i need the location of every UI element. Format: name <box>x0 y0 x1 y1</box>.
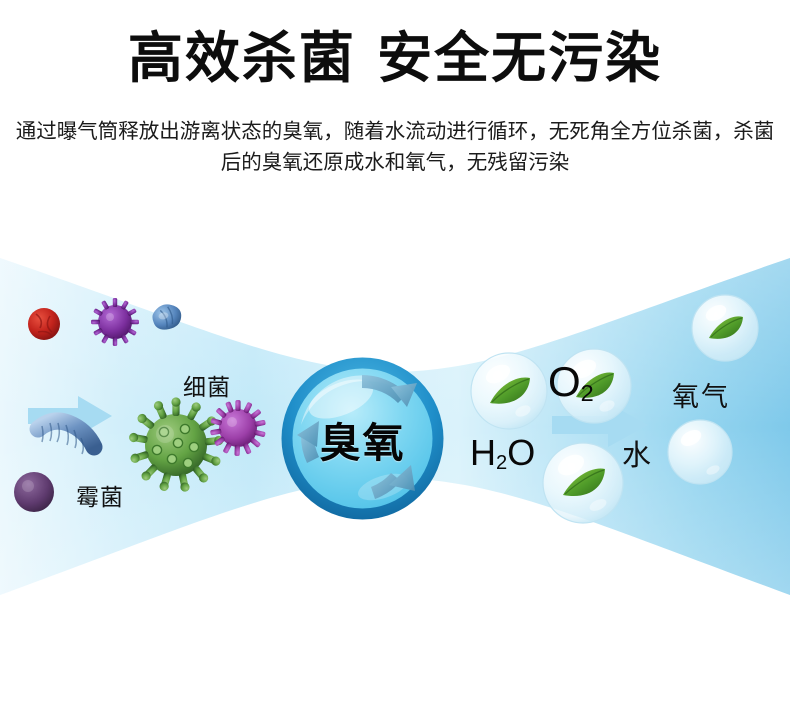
ozone-label: 臭氧 <box>279 355 446 522</box>
leaf-bubble-icon <box>471 353 547 429</box>
blue-bacterium-icon <box>150 302 183 332</box>
oxygen-subscript: 2 <box>581 380 594 406</box>
header: 高效杀菌 安全无污染 通过曝气筒释放出游离状态的臭氧，随着水流动进行循环，无死角… <box>0 0 790 210</box>
red-germ-icon <box>28 308 60 340</box>
oxygen-symbol: O <box>548 358 581 405</box>
leaf-bubble-icon <box>692 295 758 361</box>
magenta-spiky-germ-icon <box>210 400 266 456</box>
blue-rod-bacteria-icon <box>38 421 94 454</box>
green-virus-icon <box>128 397 223 492</box>
label-mold: 霉菌 <box>76 478 124 512</box>
oxygen-formula: O2 <box>548 358 594 406</box>
sterilization-diagram: 细菌 霉菌 O2 H2O 氧气 水 <box>0 230 790 610</box>
label-oxygen-gas: 氧气 <box>672 375 730 414</box>
water-symbol-o: O <box>507 432 535 473</box>
water-subscript: 2 <box>496 452 507 474</box>
page-subtitle: 通过曝气筒释放出游离状态的臭氧，随着水流动进行循环，无死角全方位杀菌，杀菌后的臭… <box>14 116 776 178</box>
purple-spiky-germ-icon <box>91 298 139 346</box>
leaf-bubble-icon <box>543 443 623 523</box>
dark-purple-spiky-germ-icon <box>2 460 66 523</box>
water-formula: H2O <box>470 432 535 474</box>
label-water: 水 <box>622 432 652 474</box>
water-symbol-h: H <box>470 432 496 473</box>
label-bacteria: 细菌 <box>183 368 231 402</box>
plain-bubble-icon <box>668 420 732 484</box>
ozone-node: 臭氧 <box>279 355 446 522</box>
page-title: 高效杀菌 安全无污染 <box>0 27 790 89</box>
